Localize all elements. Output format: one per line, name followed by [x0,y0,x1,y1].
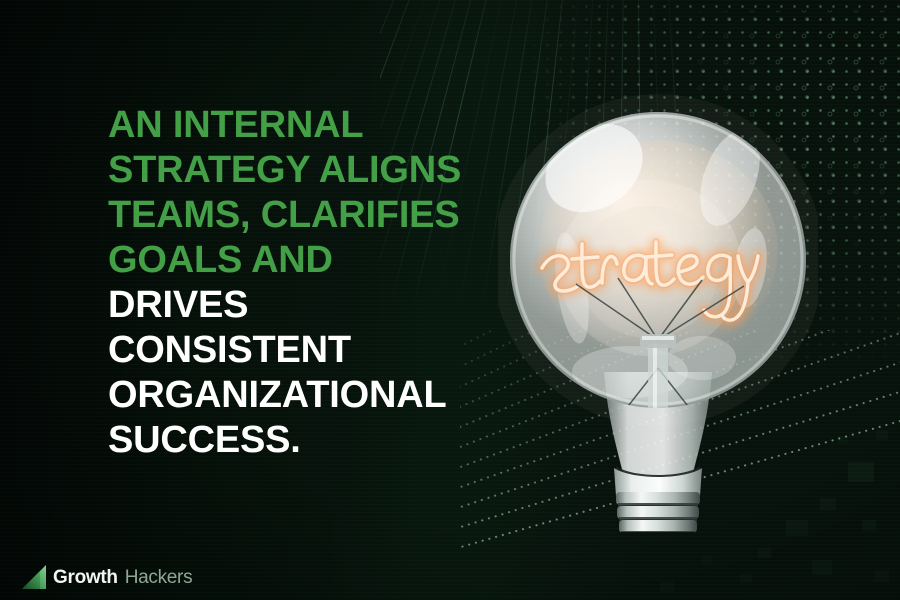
headline-line-8: SUCCESS. [108,418,528,463]
headline-line-4: GOALS AND [108,238,528,283]
logo-text-primary: Growth [53,568,118,587]
headline-block: AN INTERNALSTRATEGY ALIGNSTEAMS, CLARIFI… [108,103,528,463]
headline-line-7: ORGANIZATIONAL [108,373,528,418]
growth-arrow-icon [20,562,56,592]
headline-line-5: DRIVES [108,283,528,328]
lightbulb-illustration [498,72,818,532]
brand-logo[interactable]: Growth Hackers [20,562,192,592]
headline-line-3: TEAMS, CLARIFIES [108,193,528,238]
lightbulb-svg [498,72,818,532]
bulb-base [614,468,702,532]
headline-line-2: STRATEGY ALIGNS [108,148,528,193]
promo-banner: AN INTERNALSTRATEGY ALIGNSTEAMS, CLARIFI… [0,0,900,600]
headline-line-6: CONSISTENT [108,328,528,373]
headline-line-1: AN INTERNAL [108,103,528,148]
logo-text-secondary: Hackers [125,568,193,587]
